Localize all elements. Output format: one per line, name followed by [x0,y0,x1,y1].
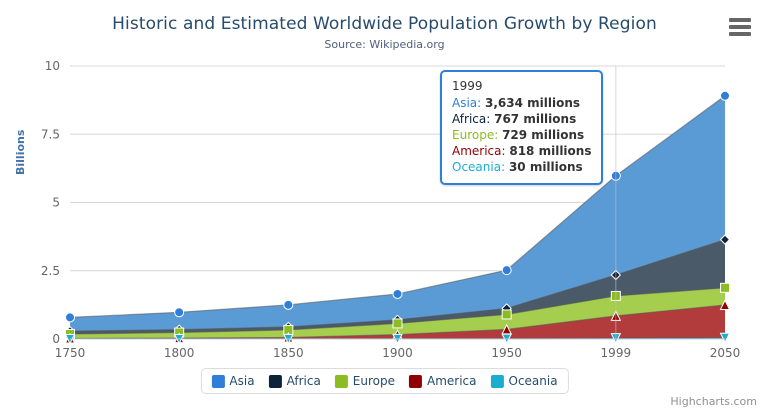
tooltip: 1999 Asia: 3,634 millionsAfrica: 767 mil… [440,70,603,185]
data-point-marker[interactable] [393,319,402,328]
x-axis-tick-label: 1900 [382,346,413,360]
highcharts-watermark: Highcharts.com [670,395,757,408]
x-axis-tick-label: 1950 [491,346,522,360]
x-axis-tick-label: 1750 [55,346,86,360]
chart-container: Historic and Estimated Worldwide Populat… [0,0,769,416]
legend-label: Asia [229,374,254,388]
data-point-marker[interactable] [66,313,75,322]
legend-item-america[interactable]: America [409,374,477,388]
tooltip-series-value: 3,634 millions [485,96,580,110]
legend-swatch-icon [491,375,504,388]
tooltip-header: 1999 [452,79,591,93]
legend-item-oceania[interactable]: Oceania [491,374,558,388]
y-axis-tick-label: 7.5 [41,127,60,141]
x-axis-tick-label: 2050 [710,346,741,360]
legend-label: America [427,374,477,388]
tooltip-row: Asia: 3,634 millions [452,95,591,111]
x-axis-tick-label: 1800 [164,346,195,360]
data-point-marker[interactable] [502,266,511,275]
legend-swatch-icon [269,375,282,388]
x-axis-tick-label: 1999 [601,346,632,360]
tooltip-series-value: 818 millions [509,144,591,158]
tooltip-series-name: Asia: [452,96,485,110]
legend-item-asia[interactable]: Asia [211,374,254,388]
legend-item-africa[interactable]: Africa [269,374,321,388]
x-axis-tick-label: 1850 [273,346,304,360]
tooltip-rows: Asia: 3,634 millionsAfrica: 767 millions… [452,95,591,175]
tooltip-series-value: 767 millions [494,112,576,126]
tooltip-series-name: Europe: [452,128,502,142]
tooltip-row: Europe: 729 millions [452,127,591,143]
tooltip-series-value: 729 millions [502,128,584,142]
tooltip-row: Africa: 767 millions [452,111,591,127]
tooltip-series-name: Oceania: [452,160,509,174]
tooltip-row: America: 818 millions [452,143,591,159]
legend-label: Oceania [509,374,558,388]
y-axis-tick-label: 2.5 [41,264,60,278]
tooltip-series-name: Africa: [452,112,494,126]
y-axis-tick-label: 5 [52,196,60,210]
chart-plot-area: 02.557.5101750180018501900195019992050 [0,0,769,416]
data-point-marker[interactable] [175,308,184,317]
y-axis-tick-label: 0 [52,332,60,346]
data-point-marker[interactable] [721,283,730,292]
legend-label: Africa [287,374,321,388]
legend-item-europe[interactable]: Europe [335,374,395,388]
tooltip-series-value: 30 millions [509,160,583,174]
data-point-marker[interactable] [284,300,293,309]
y-axis-tick-label: 10 [45,59,60,73]
legend-swatch-icon [211,375,224,388]
data-point-marker[interactable] [721,91,730,100]
legend-label: Europe [353,374,395,388]
tooltip-row: Oceania: 30 millions [452,159,591,175]
tooltip-series-name: America: [452,144,509,158]
legend-swatch-icon [335,375,348,388]
data-point-marker[interactable] [502,310,511,319]
chart-legend: AsiaAfricaEuropeAmericaOceania [200,368,568,394]
legend-swatch-icon [409,375,422,388]
data-point-marker[interactable] [393,289,402,298]
